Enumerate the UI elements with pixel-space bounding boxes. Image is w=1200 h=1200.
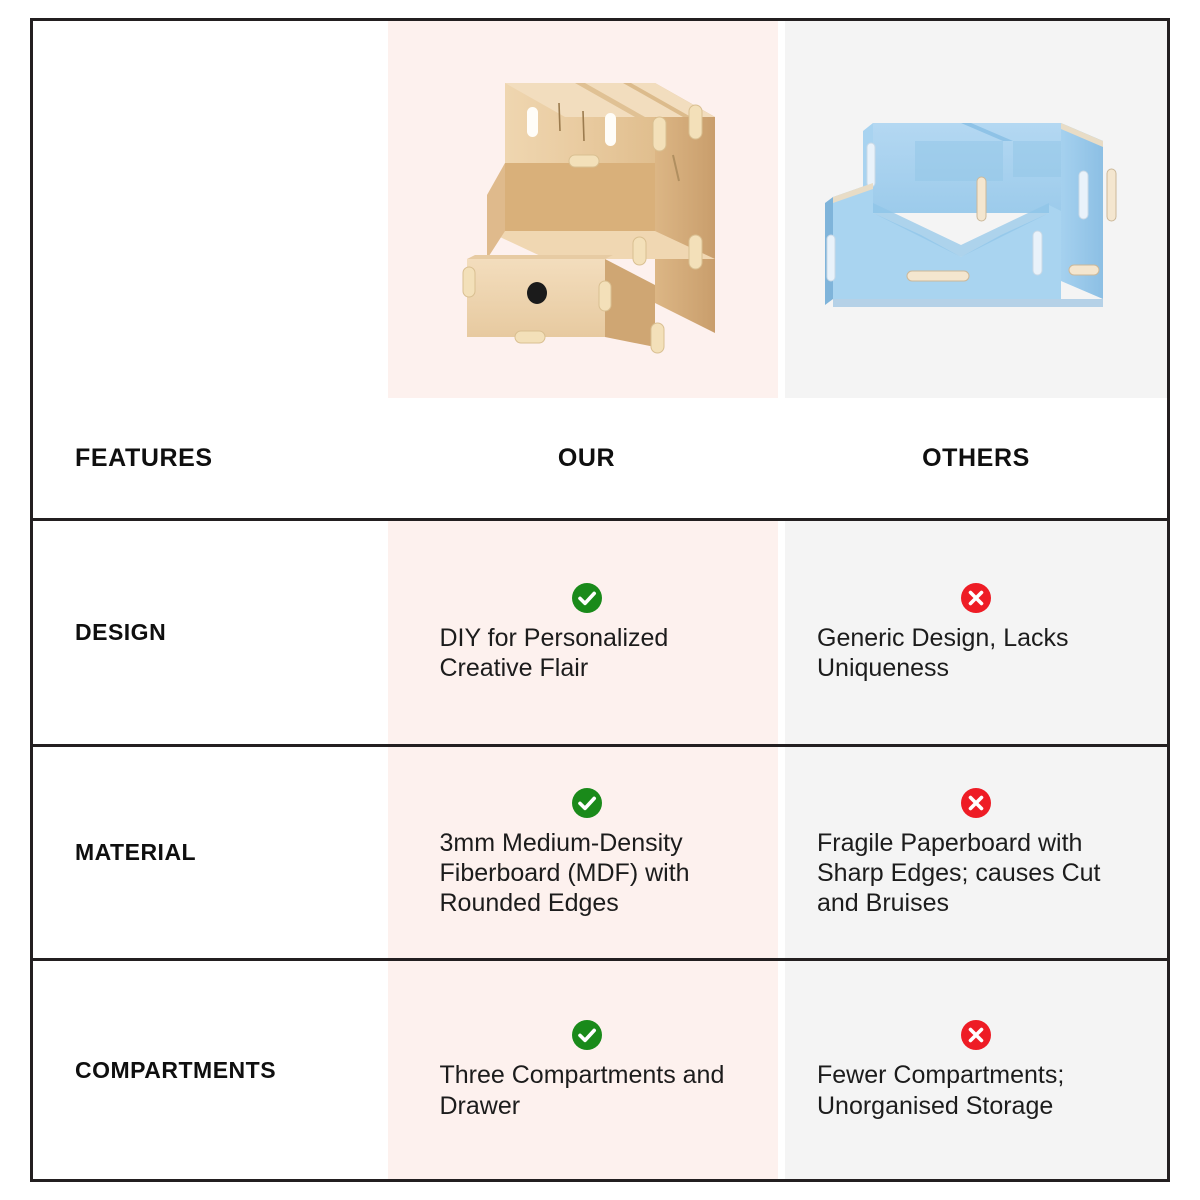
wooden-organizer-svg: [427, 45, 747, 375]
features-heading: FEATURES: [75, 444, 213, 473]
feature-label-material: MATERIAL: [75, 839, 196, 866]
table-row-design: DESIGN DIY for Personalized Creative Fla…: [33, 521, 1167, 744]
others-cell-material: Fragile Paperboard with Sharp Edges; cau…: [785, 747, 1167, 958]
others-text-compartments: Fewer Compartments; Unorganised Storage: [817, 1060, 1139, 1121]
others-text-design: Generic Design, Lacks Uniqueness: [817, 623, 1139, 684]
others-heading: OTHERS: [922, 444, 1030, 473]
wooden-organizer-illustration: [388, 21, 785, 398]
our-text-material: 3mm Medium-Density Fiberboard (MDF) with…: [440, 828, 740, 919]
others-cell-design: Generic Design, Lacks Uniqueness: [785, 521, 1167, 744]
others-product-image: [785, 21, 1167, 398]
our-cell-material: 3mm Medium-Density Fiberboard (MDF) with…: [388, 747, 785, 958]
our-text-design: DIY for Personalized Creative Flair: [440, 623, 740, 684]
check-icon: [571, 787, 603, 819]
feature-cell-material: MATERIAL: [33, 747, 388, 958]
feature-label-compartments: COMPARTMENTS: [75, 1057, 276, 1084]
cross-icon: [960, 1019, 992, 1051]
our-product-image: [388, 21, 785, 398]
feature-cell-design: DESIGN: [33, 521, 388, 744]
row-separator-2: [33, 744, 1167, 747]
our-cell-design: DIY for Personalized Creative Flair: [388, 521, 785, 744]
blue-organizer-svg: [811, 85, 1141, 335]
feature-cell-compartments: COMPARTMENTS: [33, 961, 388, 1179]
table-row-material: MATERIAL 3mm Medium-Density Fiberboard (…: [33, 747, 1167, 958]
header-our-column: OUR: [388, 21, 785, 518]
features-heading-cell: FEATURES: [33, 398, 388, 518]
cross-icon: [960, 582, 992, 614]
check-icon: [571, 582, 603, 614]
header-row: FEATURES: [33, 21, 1167, 518]
header-feature-column: FEATURES: [33, 21, 388, 518]
comparison-table: FEATURES: [30, 18, 1170, 1182]
table-row-compartments: COMPARTMENTS Three Compartments and Draw…: [33, 961, 1167, 1179]
blue-organizer-illustration: [785, 21, 1167, 398]
our-heading-cell: OUR: [388, 398, 785, 518]
row-separator-3: [33, 958, 1167, 961]
others-text-material: Fragile Paperboard with Sharp Edges; cau…: [817, 828, 1139, 919]
our-heading: OUR: [558, 444, 615, 473]
header-others-column: OTHERS: [785, 21, 1167, 518]
comparison-infographic: FEATURES: [0, 0, 1200, 1200]
our-text-compartments: Three Compartments and Drawer: [440, 1060, 740, 1121]
others-cell-compartments: Fewer Compartments; Unorganised Storage: [785, 961, 1167, 1179]
table-grid: FEATURES: [33, 21, 1167, 1179]
feature-image-placeholder: [33, 21, 388, 398]
row-separator-1: [33, 518, 1167, 521]
check-icon: [571, 1019, 603, 1051]
feature-label-design: DESIGN: [75, 619, 166, 646]
our-cell-compartments: Three Compartments and Drawer: [388, 961, 785, 1179]
cross-icon: [960, 787, 992, 819]
others-heading-cell: OTHERS: [785, 398, 1167, 518]
